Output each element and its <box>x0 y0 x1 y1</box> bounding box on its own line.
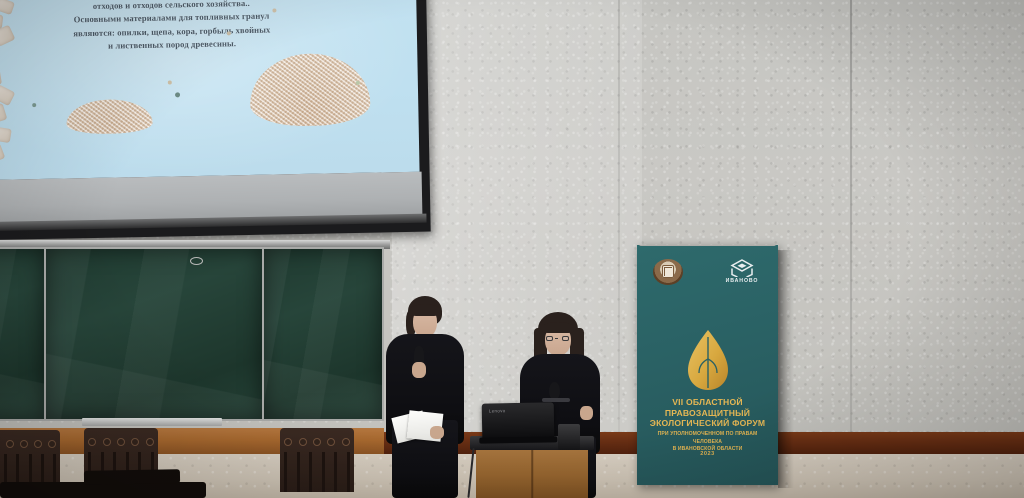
event-banner: ИВАНОВО VII ОБЛАСТНОЙ ПРАВОЗАЩИТНЫЙ ЭКОЛ… <box>637 245 778 485</box>
hairline <box>542 322 574 333</box>
banner-title-line-1: VII ОБЛАСТНОЙ <box>643 397 772 408</box>
eyeglasses-left-lens <box>546 336 553 341</box>
banner-top-rail <box>639 245 776 246</box>
chair-circle-decor <box>284 436 349 448</box>
front-table-edge <box>84 469 180 485</box>
microphone-stem <box>542 398 570 402</box>
slide-wood-chunks-graphic <box>0 0 27 170</box>
loudspeaker-box <box>558 424 580 450</box>
banner-title: VII ОБЛАСТНОЙ ПРАВОЗАЩИТНЫЙ ЭКОЛОГИЧЕСКИ… <box>643 397 772 429</box>
ivanovo-city-logo: ИВАНОВО <box>721 259 763 289</box>
chair-circle-decor <box>88 436 153 448</box>
chair-back <box>280 428 354 492</box>
wall-seam-center <box>618 0 620 436</box>
banner-subtitle-line-1: ПРИ УПОЛНОМОЧЕННОМ ПО ПРАВАМ ЧЕЛОВЕКА <box>643 431 772 446</box>
banner-year: 2023 <box>643 451 772 457</box>
hand-holding-papers <box>430 426 444 439</box>
hand-holding-microphone <box>412 362 426 378</box>
laptop[interactable]: Lenovo <box>482 402 555 439</box>
slide-dot-4 <box>32 103 36 107</box>
chalkboard-knob-icon <box>190 257 203 265</box>
chalkboard-panel-1 <box>0 247 46 421</box>
slide-dot-3 <box>175 92 180 97</box>
eyeglasses-right-lens <box>562 336 569 341</box>
slide-dot-6 <box>356 81 360 85</box>
speaker-left <box>386 296 464 498</box>
chair-circle-decor <box>0 438 56 450</box>
presentation-photo-scene: Это биотопливо, получаемое из торфа, дре… <box>0 0 1024 498</box>
hairline <box>410 304 440 316</box>
banner-title-line-3: ЭКОЛОГИЧЕСКИЙ ФОРУМ <box>643 418 772 429</box>
chalkboard <box>0 240 390 432</box>
crest-building-glyph <box>662 265 674 278</box>
slide-dot-2 <box>168 80 172 84</box>
ivanovo-logo-label: ИВАНОВО <box>721 278 763 284</box>
banner-drop-shadow <box>778 250 794 488</box>
projected-slide: Это биотопливо, получаемое из торфа, дре… <box>0 0 420 180</box>
chair-slats <box>284 452 349 492</box>
golden-leaf-emblem-icon <box>686 329 730 391</box>
chalk-tray <box>82 418 222 426</box>
slide-dot-5 <box>272 8 276 12</box>
wall-seam-right <box>850 0 852 436</box>
banner-title-line-2: ПРАВОЗАЩИТНЫЙ <box>643 408 772 419</box>
chalkboard-panel-3 <box>262 247 384 421</box>
ivanovo-mark-icon <box>729 259 755 277</box>
hand-right <box>580 406 593 420</box>
slide-dot-1 <box>227 31 231 35</box>
podium <box>476 448 588 498</box>
chair-3 <box>280 428 354 492</box>
coat-of-arms-emblem-icon <box>653 259 683 285</box>
projection-screen: Это биотопливо, получаемое из торфа, дре… <box>0 0 431 240</box>
laptop-brand-label: Lenovo <box>489 408 506 413</box>
eyeglasses-bridge <box>555 338 558 339</box>
chalkboard-panel-2 <box>44 247 264 421</box>
